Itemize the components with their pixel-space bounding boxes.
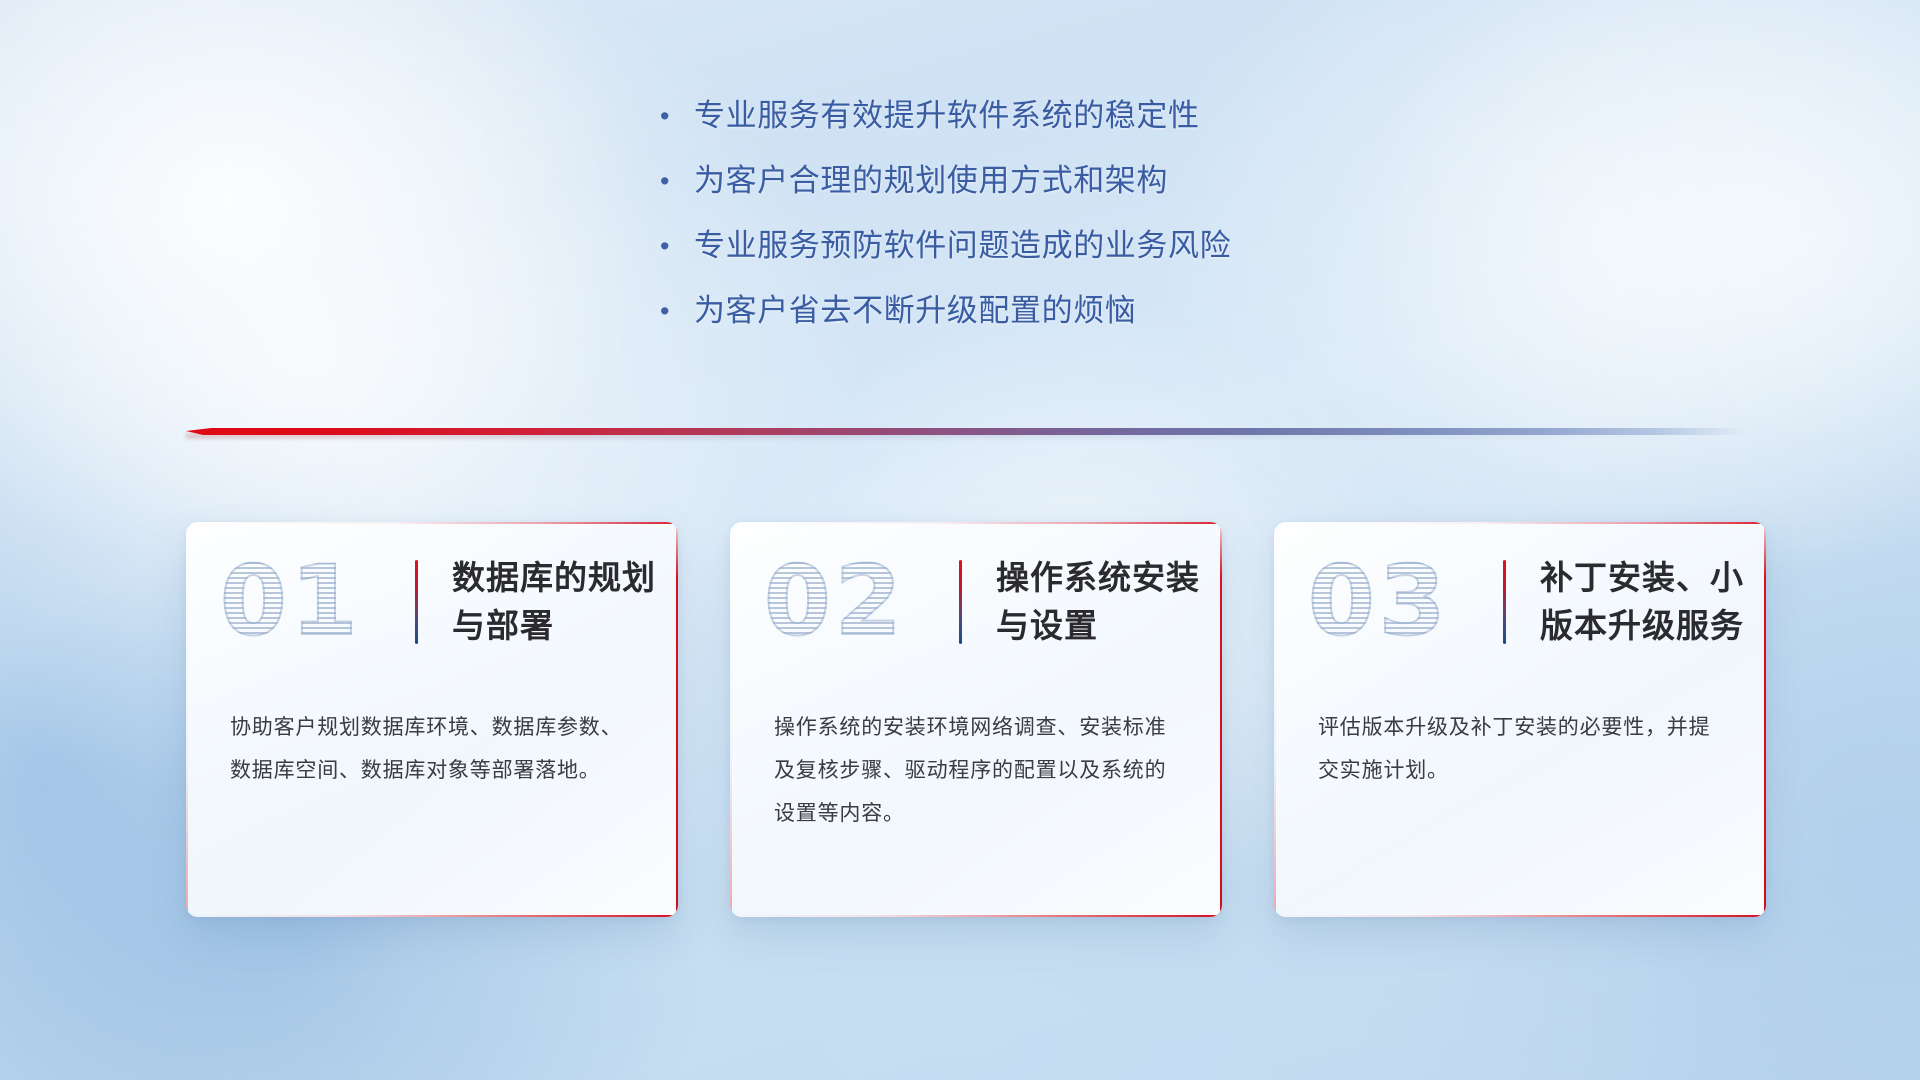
card-accent-bar (1503, 560, 1506, 644)
list-item: • 专业服务有效提升软件系统的稳定性 (660, 96, 1231, 161)
list-item: • 专业服务预防软件问题造成的业务风险 (660, 226, 1231, 291)
service-card[interactable]: 01 数据库的规划与部署 协助客户规划数据库环境、数据库参数、数据库空间、数据库… (186, 522, 678, 917)
background-glow-top-left (0, 0, 680, 580)
service-card[interactable]: 03 补丁安装、小版本升级服务 评估版本升级及补丁安装的必要性，并提交实施计划。 (1274, 522, 1766, 917)
card-body-text: 评估版本升级及补丁安装的必要性，并提交实施计划。 (1274, 682, 1766, 792)
card-edge-bottom (1274, 915, 1766, 917)
slide-canvas: • 专业服务有效提升软件系统的稳定性 • 为客户合理的规划使用方式和架构 • 专… (0, 0, 1920, 1080)
bullet-dot-icon: • (660, 291, 694, 331)
benefits-bullet-list: • 专业服务有效提升软件系统的稳定性 • 为客户合理的规划使用方式和架构 • 专… (660, 96, 1231, 356)
card-body-text: 协助客户规划数据库环境、数据库参数、数据库空间、数据库对象等部署落地。 (186, 682, 678, 792)
card-title: 补丁安装、小版本升级服务 (1540, 554, 1766, 650)
section-divider (186, 424, 1746, 440)
card-title: 数据库的规划与部署 (452, 554, 678, 650)
bullet-dot-icon: • (660, 161, 694, 201)
service-card[interactable]: 02 操作系统安装与设置 操作系统的安装环境网络调查、安装标准及复核步骤、驱动程… (730, 522, 1222, 917)
background-glow-top-right (1360, 0, 1920, 580)
bullet-dot-icon: • (660, 96, 694, 136)
card-accent-bar (415, 560, 418, 644)
service-card-list: 01 数据库的规划与部署 协助客户规划数据库环境、数据库参数、数据库空间、数据库… (186, 522, 1766, 917)
bullet-dot-icon: • (660, 226, 694, 266)
card-number: 03 (1308, 542, 1503, 662)
bullet-text: 专业服务预防软件问题造成的业务风险 (694, 226, 1231, 266)
card-edge-bottom (186, 915, 678, 917)
card-number: 01 (220, 542, 415, 662)
card-title: 操作系统安装与设置 (996, 554, 1222, 650)
card-edge-bottom (730, 915, 1222, 917)
card-header: 02 操作系统安装与设置 (730, 522, 1222, 682)
bullet-text: 为客户合理的规划使用方式和架构 (694, 161, 1168, 201)
bullet-text: 为客户省去不断升级配置的烦恼 (694, 291, 1136, 331)
card-body-text: 操作系统的安装环境网络调查、安装标准及复核步骤、驱动程序的配置以及系统的设置等内… (730, 682, 1222, 835)
divider-line (186, 428, 1746, 435)
card-header: 03 补丁安装、小版本升级服务 (1274, 522, 1766, 682)
card-accent-bar (959, 560, 962, 644)
list-item: • 为客户省去不断升级配置的烦恼 (660, 291, 1231, 356)
list-item: • 为客户合理的规划使用方式和架构 (660, 161, 1231, 226)
bullet-text: 专业服务有效提升软件系统的稳定性 (694, 96, 1200, 136)
card-header: 01 数据库的规划与部署 (186, 522, 678, 682)
card-number: 02 (764, 542, 959, 662)
